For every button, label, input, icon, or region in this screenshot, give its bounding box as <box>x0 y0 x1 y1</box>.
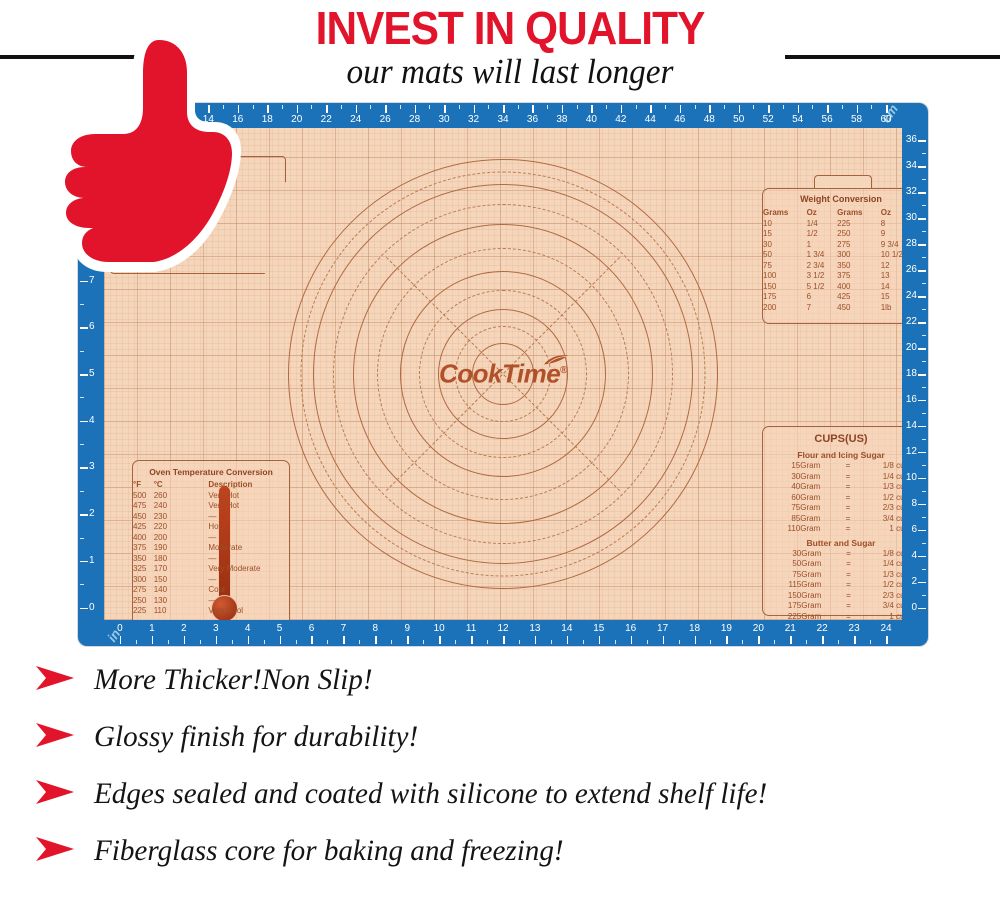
ruler-label: 10 <box>906 473 917 483</box>
table-row: 110Gram=1 cup <box>773 524 902 535</box>
table-cell: 30 <box>763 240 807 251</box>
ruler-label: 50 <box>733 115 744 125</box>
ruler-tick <box>311 636 313 644</box>
ruler-tick-minor <box>253 105 254 109</box>
ruler-tick-minor <box>871 105 872 109</box>
table-row: 151/22509 <box>763 229 902 240</box>
oven-temperature-table: °F°CDescription500260Very Hot475240Very … <box>133 480 289 617</box>
feature-list: More Thicker!Non Slip!Glossy finish for … <box>34 663 994 891</box>
table-row: 15Gram=1/8 cup <box>773 461 902 472</box>
table-cell: 150 <box>154 575 175 586</box>
table-cell: Gram <box>800 503 843 514</box>
ruler-tick-minor <box>922 413 926 414</box>
table-cell: 450 <box>133 512 154 523</box>
table-cell: 400 <box>837 282 881 293</box>
ruler-label: 20 <box>291 115 302 125</box>
table-cell: 275 <box>133 585 154 596</box>
table-cell: 10 <box>763 219 807 230</box>
ruler-tick <box>503 636 505 644</box>
ruler-tick-minor <box>80 397 84 398</box>
ruler-tick <box>918 270 926 272</box>
ruler-label: 21 <box>785 624 796 634</box>
ruler-tick <box>918 608 926 610</box>
ruler-label: 2 <box>911 577 917 587</box>
ruler-label: 8 <box>911 499 917 509</box>
table-cell: 300 <box>133 575 154 586</box>
table-cell: 300 <box>837 250 881 261</box>
ruler-tick <box>827 105 829 113</box>
ruler-tick <box>80 467 88 469</box>
table-row: 225110Very Cool <box>133 606 289 617</box>
table-cell <box>174 533 208 544</box>
table-cell: 9 <box>881 229 902 240</box>
ruler-tick <box>695 636 697 644</box>
table-cell: = <box>843 514 853 525</box>
table-cell: 1/8 cup <box>853 461 902 472</box>
ruler-label: 23 <box>849 624 860 634</box>
table-cell: 260 <box>154 491 175 502</box>
ruler-tick <box>444 105 446 113</box>
ruler-label: 20 <box>753 624 764 634</box>
table-cell: 150 <box>763 282 807 293</box>
table-cell <box>174 543 208 554</box>
ruler-tick-minor <box>922 569 926 570</box>
ruler-tick-minor <box>665 105 666 109</box>
table-cell: 75 <box>763 261 807 272</box>
ruler-tick <box>80 327 88 329</box>
ruler-tick-minor <box>922 361 926 362</box>
ruler-tick-minor <box>724 105 725 109</box>
ruler-label: 12 <box>497 624 508 634</box>
table-row: 75Gram=2/3 cup <box>773 503 902 514</box>
table-header-cell: Oz <box>807 208 838 219</box>
ruler-tick <box>857 105 859 113</box>
ruler-label: 19 <box>721 624 732 634</box>
table-cell <box>174 501 208 512</box>
ruler-tick-minor <box>838 640 839 644</box>
table-row: 150Gram=2/3 cup <box>773 591 902 602</box>
table-cell <box>174 575 208 586</box>
ruler-tick-minor <box>695 105 696 109</box>
ruler-label: 20 <box>906 343 917 353</box>
table-row: 20074501lb <box>763 303 902 314</box>
ruler-tick-minor <box>264 640 265 644</box>
ruler-tick <box>532 105 534 113</box>
ruler-label: 16 <box>625 624 636 634</box>
table-cell: 40 <box>773 482 800 493</box>
ruler-label: 30 <box>906 213 917 223</box>
ruler-tick-minor <box>922 491 926 492</box>
table-cell: = <box>843 461 853 472</box>
table-cell: 30 <box>773 549 801 560</box>
table-row: 30Gram=1/4 cup <box>773 472 902 483</box>
table-cell: 325 <box>133 564 154 575</box>
table-cell: Gram <box>800 472 843 483</box>
table-cell: 10 1/2 <box>881 250 902 261</box>
ruler-bottom-inches: in 0123456789101112131415161718192021222… <box>104 620 902 646</box>
table-cell: 170 <box>154 564 175 575</box>
ruler-tick <box>80 561 88 563</box>
feature-text: Glossy finish for durability! <box>94 720 418 754</box>
ruler-label: 17 <box>657 624 668 634</box>
ruler-tick-minor <box>487 640 488 644</box>
ruler-tick-minor <box>459 105 460 109</box>
ruler-label: 8 <box>373 624 379 634</box>
ruler-label: 4 <box>245 624 251 634</box>
table-cell: — <box>208 575 289 586</box>
weight-panel-notch <box>814 175 872 189</box>
table-cell: Very Hot <box>208 501 289 512</box>
ruler-tick <box>356 105 358 113</box>
table-row: 300150— <box>133 575 289 586</box>
ruler-tick-minor <box>577 105 578 109</box>
table-row: 1505 1/240014 <box>763 282 902 293</box>
ruler-tick <box>918 322 926 324</box>
ruler-label: 5 <box>89 369 95 379</box>
ruler-tick-minor <box>922 179 926 180</box>
table-cell: Gram <box>801 549 843 560</box>
table-cell: 110 <box>154 606 175 617</box>
table-row: 450230— <box>133 512 289 523</box>
table-cell: 225 <box>133 606 154 617</box>
ruler-tick <box>918 556 926 558</box>
table-cell: = <box>843 472 853 483</box>
table-cell: 130 <box>154 596 175 607</box>
ruler-tick-minor <box>615 640 616 644</box>
cups-conversion-table: 15Gram=1/8 cup30Gram=1/4 cup40Gram=1/3 c… <box>773 461 902 535</box>
table-cell: 3 1/2 <box>807 271 838 282</box>
table-row: 275140Cool <box>133 585 289 596</box>
ruler-label: 6 <box>911 525 917 535</box>
table-row: 60Gram=1/2 cup <box>773 493 902 504</box>
ruler-label: 18 <box>906 369 917 379</box>
ruler-label: 11 <box>466 624 476 634</box>
ruler-tick <box>650 105 652 113</box>
ruler-label: 38 <box>556 115 567 125</box>
table-cell: Moderate <box>208 543 289 554</box>
ruler-label: 58 <box>851 115 862 125</box>
ruler-label: 30 <box>439 115 450 125</box>
ruler-tick-minor <box>583 640 584 644</box>
ruler-label: 18 <box>689 624 700 634</box>
ruler-tick-minor <box>922 153 926 154</box>
ruler-label: 34 <box>497 115 508 125</box>
ruler-label: 1 <box>89 556 95 566</box>
table-cell: 200 <box>763 303 807 314</box>
table-header-cell: Description <box>208 480 289 491</box>
table-cell: 8 <box>881 219 902 230</box>
table-cell: 12 <box>881 261 902 272</box>
table-cell <box>174 606 208 617</box>
table-cell: Gram <box>800 461 843 472</box>
table-cell: = <box>843 493 853 504</box>
table-cell: 190 <box>154 543 175 554</box>
table-cell <box>174 564 208 575</box>
ruler-tick-minor <box>753 105 754 109</box>
ruler-tick <box>790 636 792 644</box>
ruler-tick-minor <box>922 465 926 466</box>
ruler-tick-minor <box>488 105 489 109</box>
ruler-tick <box>918 426 926 428</box>
table-header-cell: Oz <box>881 208 902 219</box>
ruler-tick-minor <box>922 257 926 258</box>
table-cell: 1/3 cup <box>853 570 902 581</box>
cups-us-panel: CUPS(US) Flour and Icing Sugar15Gram=1/8… <box>762 426 902 616</box>
table-cell: 60 <box>773 493 800 504</box>
ruler-tick-minor <box>679 640 680 644</box>
ruler-tick <box>297 105 299 113</box>
table-header-cell: °C <box>154 480 175 491</box>
table-cell: 75 <box>773 503 800 514</box>
table-cell: 6 <box>807 292 838 303</box>
ruler-tick-minor <box>80 444 84 445</box>
table-row: 375190Moderate <box>133 543 289 554</box>
table-cell <box>174 522 208 533</box>
ruler-label: 7 <box>341 624 347 634</box>
table-row: 250130— <box>133 596 289 607</box>
table-cell: — <box>208 554 289 565</box>
ruler-label: 24 <box>880 624 891 634</box>
ruler-tick-minor <box>551 640 552 644</box>
table-cell: Gram <box>801 612 843 621</box>
feature-text: Fiberglass core for baking and freezing! <box>94 834 564 868</box>
ruler-label: 32 <box>906 187 917 197</box>
ruler-label: 48 <box>704 115 715 125</box>
oven-temperature-panel: Oven Temperature Conversion °F°CDescript… <box>132 460 290 620</box>
ruler-label: 6 <box>309 624 315 634</box>
ruler-label: 3 <box>213 624 219 634</box>
ruler-tick-minor <box>327 640 328 644</box>
page-title: INVEST IN QUALITY <box>262 4 759 52</box>
table-row: 500260Very Hot <box>133 491 289 502</box>
ruler-tick <box>80 514 88 516</box>
ruler-tick-minor <box>922 439 926 440</box>
table-cell: 225 <box>837 219 881 230</box>
ruler-tick <box>918 348 926 350</box>
table-cell <box>174 585 208 596</box>
ruler-label: 56 <box>822 115 833 125</box>
ruler-tick <box>474 105 476 113</box>
ruler-tick <box>621 105 623 113</box>
ruler-tick-minor <box>922 309 926 310</box>
table-row: 85Gram=3/4 cup <box>773 514 902 525</box>
header-rule-right <box>785 55 1000 59</box>
table-cell: = <box>844 601 854 612</box>
table-cell: 1 cup <box>853 524 902 535</box>
table-cell: 15 <box>881 292 902 303</box>
table-cell: 375 <box>837 271 881 282</box>
ruler-tick-minor <box>636 105 637 109</box>
table-row: 3012759 3/4 <box>763 240 902 251</box>
oven-temperature-title: Oven Temperature Conversion <box>133 467 289 477</box>
ruler-label: 4 <box>911 551 917 561</box>
table-cell: 115 <box>773 580 801 591</box>
ruler-tick <box>631 636 633 644</box>
ruler-label: 9 <box>404 624 410 634</box>
table-cell: — <box>208 512 289 523</box>
ruler-label: 0 <box>911 603 917 613</box>
ruler-tick-minor <box>423 640 424 644</box>
ruler-tick <box>918 374 926 376</box>
ruler-tick <box>439 636 441 644</box>
ruler-tick <box>535 636 537 644</box>
table-cell: 1/4 cup <box>853 472 902 483</box>
ruler-label: 52 <box>763 115 774 125</box>
ruler-tick <box>854 636 856 644</box>
table-cell: Gram <box>801 570 843 581</box>
table-cell: 1/3 cup <box>853 482 902 493</box>
table-row: 325170Very Moderate <box>133 564 289 575</box>
ruler-label: 36 <box>906 135 917 145</box>
ruler-label: 34 <box>906 161 917 171</box>
table-row: 400200— <box>133 533 289 544</box>
table-cell: Very Cool <box>208 606 289 617</box>
table-cell: 225 <box>773 612 801 621</box>
feature-text: More Thicker!Non Slip! <box>94 663 373 697</box>
table-cell: 5 1/2 <box>807 282 838 293</box>
table-cell: 50 <box>763 250 807 261</box>
ruler-label: 13 <box>529 624 540 634</box>
table-cell: = <box>844 580 854 591</box>
table-cell: Gram <box>800 482 843 493</box>
ruler-label: 22 <box>817 624 828 634</box>
ruler-tick-minor <box>870 640 871 644</box>
table-cell: = <box>844 570 854 581</box>
table-cell: 15 <box>763 229 807 240</box>
ruler-label: 10 <box>434 624 445 634</box>
ruler-tick-minor <box>232 640 233 644</box>
table-cell: Gram <box>801 601 843 612</box>
table-cell: = <box>843 482 853 493</box>
table-row: 101/42258 <box>763 219 902 230</box>
table-cell: 250 <box>837 229 881 240</box>
list-item: More Thicker!Non Slip! <box>34 663 994 697</box>
table-cell: 220 <box>154 522 175 533</box>
ruler-label: 24 <box>906 291 917 301</box>
ruler-tick <box>80 421 88 423</box>
table-cell: 180 <box>154 554 175 565</box>
table-cell: 14 <box>881 282 902 293</box>
table-cell: Gram <box>800 493 843 504</box>
table-cell: 2 3/4 <box>807 261 838 272</box>
table-cell <box>174 596 208 607</box>
table-cell: 200 <box>154 533 175 544</box>
ruler-tick-minor <box>922 283 926 284</box>
feature-text: Edges sealed and coated with silicone to… <box>94 777 767 811</box>
ruler-tick <box>918 504 926 506</box>
ruler-tick <box>886 636 888 644</box>
table-header-cell: Grams <box>837 208 881 219</box>
table-row: GramsOzGramsOz <box>763 208 902 219</box>
ruler-tick-minor <box>783 105 784 109</box>
ruler-tick <box>918 192 926 194</box>
ruler-tick-minor <box>80 351 84 352</box>
table-cell: Very Moderate <box>208 564 289 575</box>
ruler-tick <box>663 636 665 644</box>
ruler-tick <box>918 218 926 220</box>
table-row: °F°CDescription <box>133 480 289 491</box>
ruler-tick <box>798 105 800 113</box>
ruler-tick <box>120 636 122 644</box>
weight-conversion-title: Weight Conversion <box>763 194 902 204</box>
ruler-label: 24 <box>350 115 361 125</box>
red-arrow-icon <box>34 664 76 697</box>
table-cell: 50 <box>773 559 801 570</box>
ruler-tick-minor <box>400 105 401 109</box>
table-cell: 1 3/4 <box>807 250 838 261</box>
table-cell: 3/4 cup <box>853 514 902 525</box>
table-row: 75Gram=1/3 cup <box>773 570 902 581</box>
ruler-tick-minor <box>455 640 456 644</box>
cups-section-subtitle: Flour and Icing Sugar <box>773 450 902 460</box>
table-cell: = <box>843 503 853 514</box>
ruler-tick <box>918 166 926 168</box>
table-cell: Hot <box>208 522 289 533</box>
ruler-tick <box>918 244 926 246</box>
ruler-tick <box>918 530 926 532</box>
list-item: Glossy finish for durability! <box>34 720 994 754</box>
brand-logo: CookTime® <box>439 359 567 390</box>
ruler-tick <box>758 636 760 644</box>
table-cell: 350 <box>837 261 881 272</box>
ruler-label: 2 <box>89 509 95 519</box>
ruler-tick <box>918 582 926 584</box>
table-row: 40Gram=1/3 cup <box>773 482 902 493</box>
table-cell: 1lb <box>881 303 902 314</box>
ruler-tick-minor <box>168 640 169 644</box>
ruler-tick-minor <box>359 640 360 644</box>
ruler-tick <box>918 478 926 480</box>
weight-conversion-panel: Weight Conversion GramsOzGramsOz101/4225… <box>762 188 902 324</box>
ruler-tick-minor <box>806 640 807 644</box>
ruler-tick-minor <box>518 105 519 109</box>
ruler-tick <box>375 636 377 644</box>
table-cell: 2/3 cup <box>853 503 902 514</box>
table-cell: 15 <box>773 461 800 472</box>
ruler-tick-minor <box>774 640 775 644</box>
ruler-right-cm: 363432302826242220181614121086420 <box>902 128 928 620</box>
ruler-label: 22 <box>321 115 332 125</box>
ruler-tick-minor <box>429 105 430 109</box>
ruler-tick <box>918 400 926 402</box>
ruler-label: 5 <box>277 624 283 634</box>
table-cell: 3/4 cup <box>853 601 902 612</box>
ruler-tick-minor <box>80 491 84 492</box>
table-cell: Cool <box>208 585 289 596</box>
ruler-tick <box>567 636 569 644</box>
ruler-label: 44 <box>645 115 656 125</box>
table-cell: 240 <box>154 501 175 512</box>
ruler-tick-minor <box>391 640 392 644</box>
table-row: 175642515 <box>763 292 902 303</box>
table-row: 475240Very Hot <box>133 501 289 512</box>
ruler-label: 28 <box>409 115 420 125</box>
table-cell <box>174 512 208 523</box>
ruler-tick <box>599 636 601 644</box>
table-cell <box>174 491 208 502</box>
table-cell: 150 <box>773 591 801 602</box>
ruler-label: 42 <box>615 115 626 125</box>
red-arrow-icon <box>34 835 76 868</box>
ruler-tick-minor <box>282 105 283 109</box>
ruler-label: 6 <box>89 322 95 332</box>
ruler-label: 18 <box>262 115 273 125</box>
table-row: 50Gram=1/4 cup <box>773 559 902 570</box>
ruler-tick <box>886 105 888 113</box>
table-row: 350180— <box>133 554 289 565</box>
ruler-tick <box>918 452 926 454</box>
ruler-tick-minor <box>647 640 648 644</box>
